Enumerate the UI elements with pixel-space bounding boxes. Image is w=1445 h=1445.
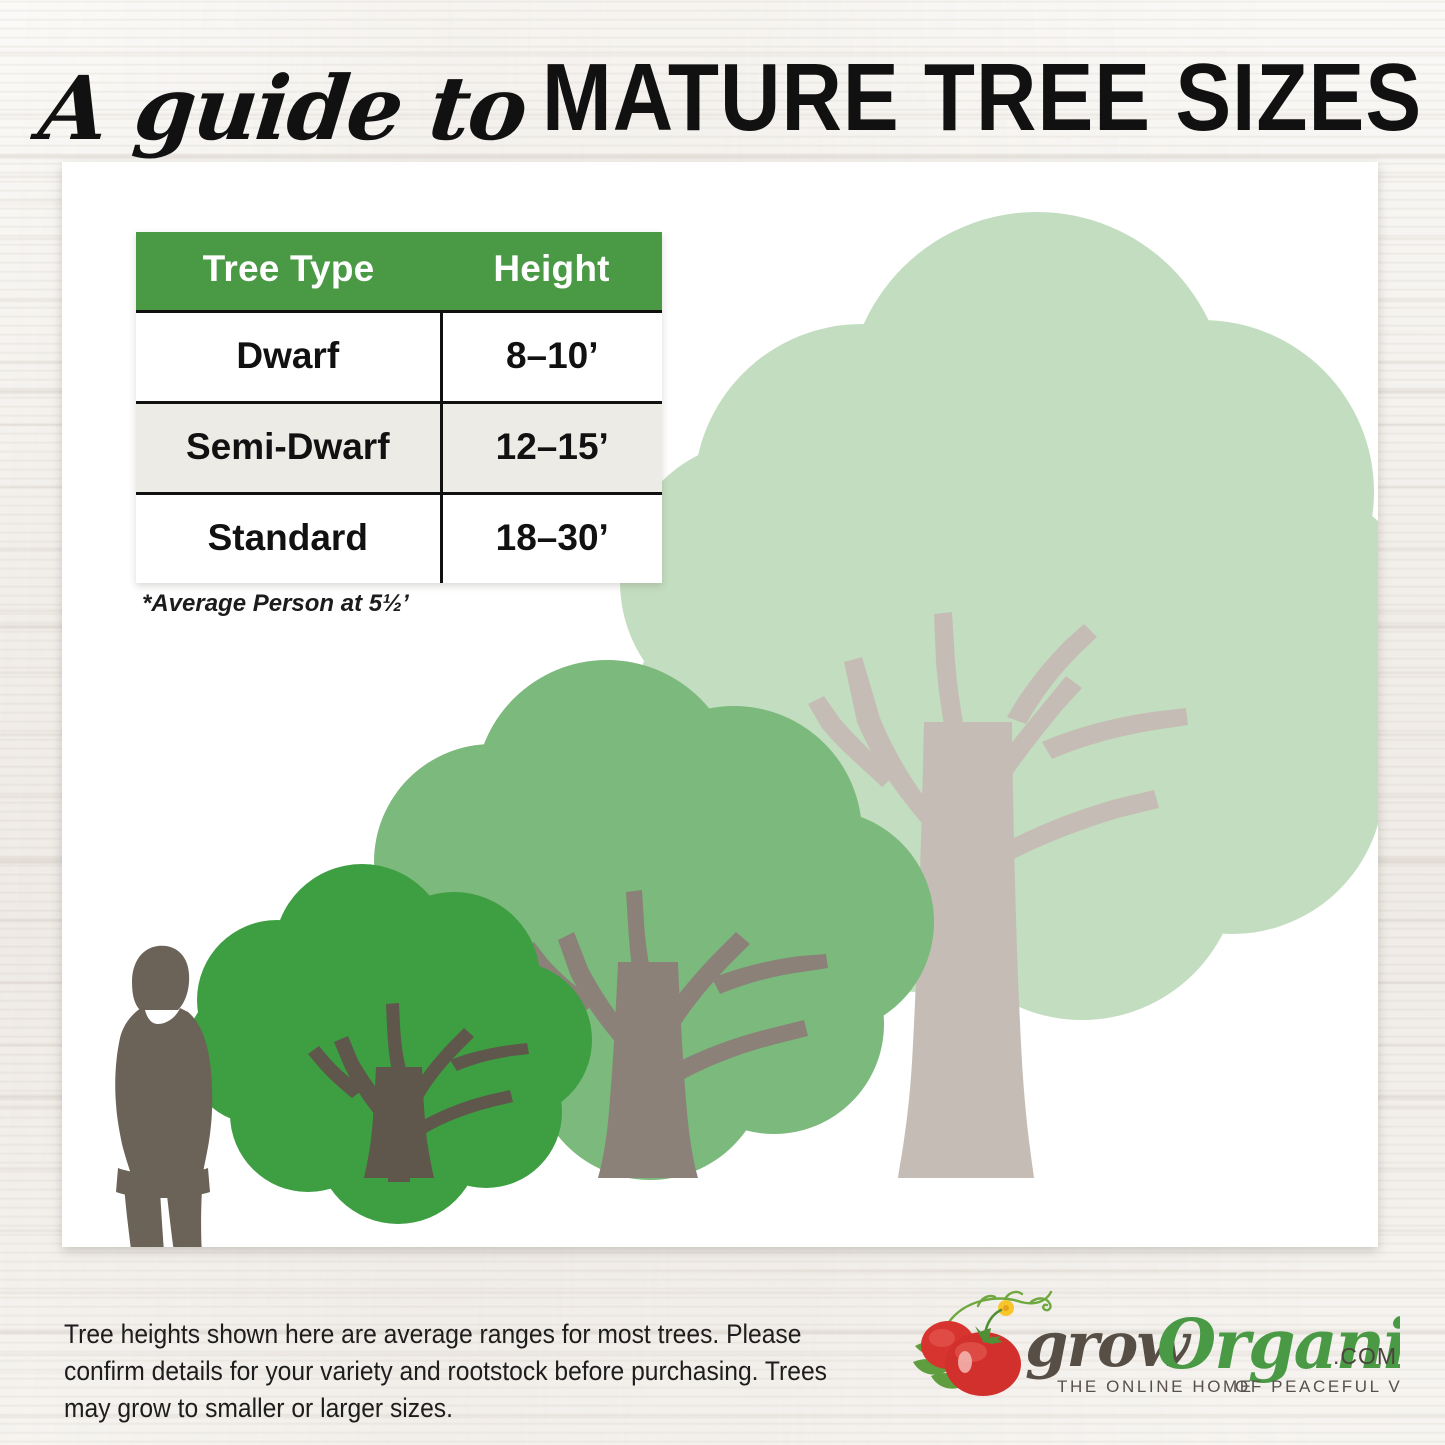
grow-organic-logo[interactable]: grow Organic .COM THE ONLINE HOME OF PEA… — [905, 1288, 1400, 1408]
cell-tree-type-semi-dwarf: Semi-Dwarf — [136, 403, 441, 494]
tomato-icon — [921, 1310, 1021, 1396]
flower-icon — [998, 1300, 1014, 1316]
table-footnote: *Average Person at 5½’ — [142, 590, 409, 618]
table-header-height: Height — [441, 232, 662, 312]
table-header-row: Tree Type Height — [136, 232, 662, 312]
cell-height-standard: 18–30’ — [441, 494, 662, 584]
table-row: Dwarf 8–10’ — [136, 312, 662, 403]
disclaimer-text: Tree heights shown here are average rang… — [64, 1316, 836, 1427]
logo-tagline-right: OF PEACEFUL VALLEY — [1235, 1377, 1400, 1396]
table-row: Semi-Dwarf 12–15’ — [136, 403, 662, 494]
cell-height-dwarf: 8–10’ — [441, 312, 662, 403]
infographic-card: Tree Type Height Dwarf 8–10’ Semi-Dwarf … — [62, 162, 1378, 1247]
table-row: Standard 18–30’ — [136, 494, 662, 584]
logo-domain: .COM — [1333, 1343, 1397, 1369]
title-bold-text: MATURE TREE SIZES — [542, 44, 1422, 153]
cell-tree-type-standard: Standard — [136, 494, 441, 584]
title-script-text: A guide to — [35, 56, 531, 160]
table-header-tree-type: Tree Type — [136, 232, 441, 312]
page-title: A guide toMATURE TREE SIZES — [0, 56, 1445, 160]
cell-tree-type-dwarf: Dwarf — [136, 312, 441, 403]
tree-size-table: Tree Type Height Dwarf 8–10’ Semi-Dwarf … — [136, 232, 662, 583]
logo-tagline-left: THE ONLINE HOME — [1057, 1377, 1254, 1396]
cell-height-semi-dwarf: 12–15’ — [441, 403, 662, 494]
